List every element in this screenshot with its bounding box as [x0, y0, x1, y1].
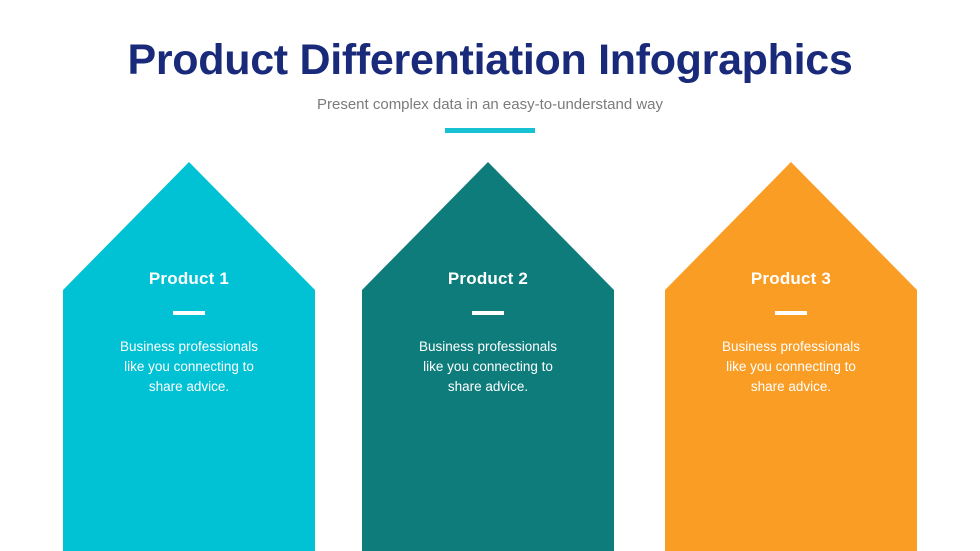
card-description-line: Business professionals — [63, 337, 315, 357]
card-title-2: Product 2 — [362, 162, 614, 289]
card-description-line: Business professionals — [362, 337, 614, 357]
card-description-line: share advice. — [665, 377, 917, 397]
card-description-line: share advice. — [362, 377, 614, 397]
card-title-1: Product 1 — [63, 162, 315, 289]
card-title-3: Product 3 — [665, 162, 917, 289]
card-description-1: Business professionals like you connecti… — [63, 315, 315, 396]
card-description-line: share advice. — [63, 377, 315, 397]
card-description-line: like you connecting to — [362, 357, 614, 377]
product-card-1[interactable]: Product 1 Business professionals like yo… — [63, 162, 315, 551]
card-description-line: like you connecting to — [63, 357, 315, 377]
card-description-3: Business professionals like you connecti… — [665, 315, 917, 396]
product-card-group: Product 1 Business professionals like yo… — [0, 0, 980, 551]
product-card-2[interactable]: Product 2 Business professionals like yo… — [362, 162, 614, 551]
card-description-line: like you connecting to — [665, 357, 917, 377]
card-content-1: Product 1 Business professionals like yo… — [63, 162, 315, 396]
card-description-2: Business professionals like you connecti… — [362, 315, 614, 396]
card-content-3: Product 3 Business professionals like yo… — [665, 162, 917, 396]
infographic-slide: Product Differentiation Infographics Pre… — [0, 0, 980, 551]
product-card-3[interactable]: Product 3 Business professionals like yo… — [665, 162, 917, 551]
card-content-2: Product 2 Business professionals like yo… — [362, 162, 614, 396]
card-description-line: Business professionals — [665, 337, 917, 357]
